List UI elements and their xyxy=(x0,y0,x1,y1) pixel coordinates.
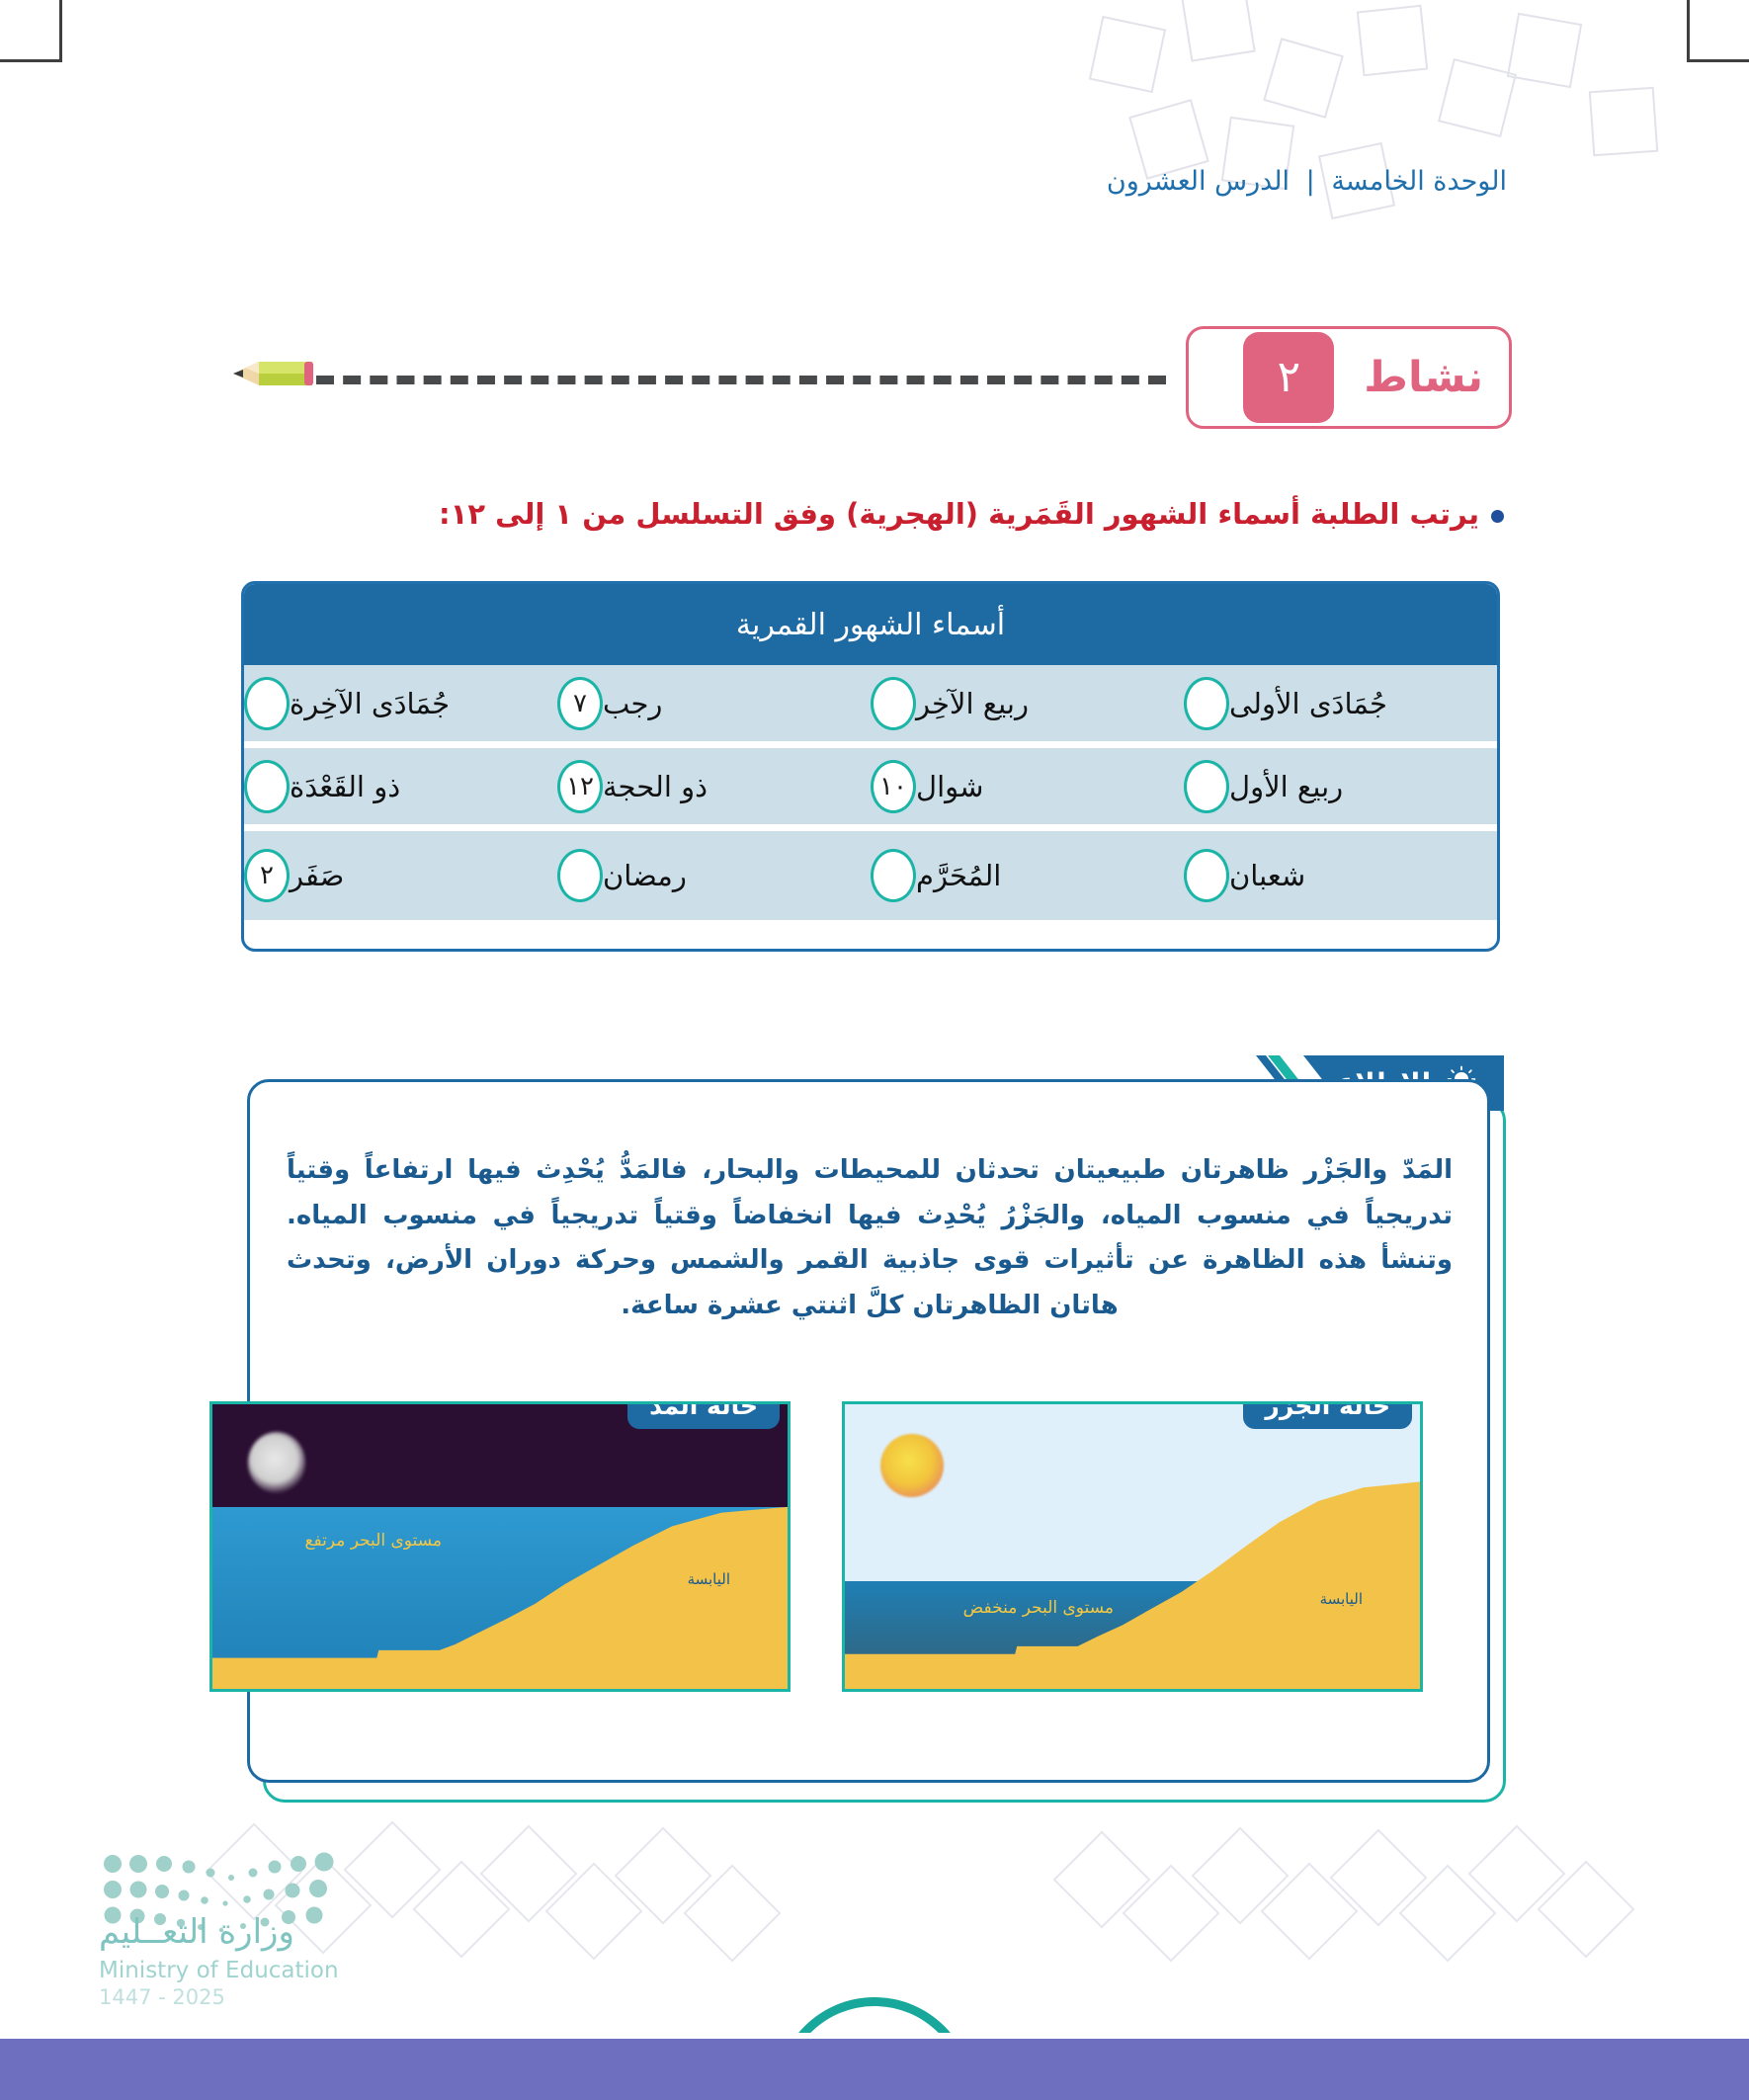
ministry-year: 2025 - 1447 xyxy=(99,1985,225,2009)
month-number-circle[interactable] xyxy=(244,760,290,813)
month-number-circle[interactable]: ١٢ xyxy=(557,760,603,813)
month-name: ذو الحجة xyxy=(603,770,708,803)
page-header: الوحدة الخامسة | الدرس العشرون xyxy=(1107,166,1507,197)
instruction-line: يرتب الطلبة أسماء الشهور القَمَرية (الهج… xyxy=(239,494,1504,535)
month-cell[interactable]: ربيع الأول xyxy=(1184,760,1497,813)
table-row: جُمَادَى الأولى ربيع الآخِر ٧ رجب جُمَاد… xyxy=(244,665,1497,748)
month-cell[interactable]: جُمَادَى الآخِرة xyxy=(244,677,557,730)
sea-level-label: مستوى البحر مرتفع xyxy=(304,1531,442,1551)
month-number-circle[interactable]: ٧ xyxy=(557,677,603,730)
info-paragraph: المَدّ والجَزْر ظاهرتان طبيعيتان تحدثان … xyxy=(287,1148,1453,1328)
month-cell[interactable]: ذو القَعْدَة xyxy=(244,760,557,813)
instruction-text: يرتب الطلبة أسماء الشهور القَمَرية (الهج… xyxy=(439,497,1479,531)
month-name: ذو القَعْدَة xyxy=(290,770,400,803)
activity-badge: نشاط ٢ xyxy=(1186,326,1512,429)
month-cell[interactable]: ربيع الآخِر xyxy=(871,677,1184,730)
land-shape xyxy=(845,1404,1420,1689)
month-name: صَفَر xyxy=(290,859,344,892)
header-separator: | xyxy=(1306,166,1315,197)
month-number-circle[interactable] xyxy=(1184,760,1229,813)
month-number-circle[interactable] xyxy=(871,677,916,730)
table-row: ربيع الأول ١٠ شوال ١٢ ذو الحجة ذو القَعْ… xyxy=(244,748,1497,831)
month-number-circle[interactable] xyxy=(1184,677,1229,730)
month-cell[interactable]: ٧ رجب xyxy=(557,677,871,730)
month-number-circle[interactable] xyxy=(1184,849,1229,902)
month-cell[interactable]: رمضان xyxy=(557,849,871,902)
month-name: رمضان xyxy=(603,859,687,892)
table-row: شعبان المُحَرَّم رمضان ٢ صَفَر xyxy=(244,831,1497,920)
month-name: رجب xyxy=(603,687,662,720)
month-cell[interactable]: المُحَرَّم xyxy=(871,849,1184,902)
diagram-low-tide: مستوى البحر منخفض اليابسة حالة الجَزْر xyxy=(842,1401,1423,1692)
month-name: شعبان xyxy=(1229,859,1305,892)
month-name: شوال xyxy=(916,770,983,803)
month-number-circle[interactable] xyxy=(871,849,916,902)
activity-dashed-line xyxy=(316,376,1166,384)
month-name: ربيع الآخِر xyxy=(916,687,1029,720)
crop-mark-top-left xyxy=(0,0,62,62)
land-label: اليابسة xyxy=(1320,1590,1363,1608)
activity-number: ٢ xyxy=(1243,332,1334,423)
month-number-circle[interactable]: ١٠ xyxy=(871,760,916,813)
bullet-icon xyxy=(1491,510,1504,523)
diagram-title: حالة المَدّ xyxy=(627,1401,780,1429)
activity-strip: نشاط ٢ xyxy=(237,326,1512,435)
ministry-name-arabic: وزارة التعــليم xyxy=(99,1912,294,1952)
land-label: اليابسة xyxy=(688,1570,730,1588)
sea-level-label: مستوى البحر منخفض xyxy=(963,1598,1114,1618)
pencil-icon xyxy=(225,344,314,403)
month-cell[interactable]: شعبان xyxy=(1184,849,1497,902)
land-shape xyxy=(212,1404,788,1689)
activity-label: نشاط xyxy=(1364,357,1483,399)
month-cell[interactable]: ١٢ ذو الحجة xyxy=(557,760,871,813)
month-cell[interactable]: ٢ صَفَر xyxy=(244,849,557,902)
month-name: ربيع الأول xyxy=(1229,770,1343,803)
month-name: المُحَرَّم xyxy=(916,859,1001,892)
header-lesson: الدرس العشرون xyxy=(1107,166,1290,197)
month-number-circle[interactable] xyxy=(557,849,603,902)
month-name: جُمَادَى الآخِرة xyxy=(290,687,450,720)
months-table: أسماء الشهور القمرية جُمَادَى الأولى ربي… xyxy=(241,581,1500,952)
footer-bar xyxy=(0,2039,1749,2100)
month-number-circle[interactable]: ٢ xyxy=(244,849,290,902)
month-name: جُمَادَى الأولى xyxy=(1229,687,1387,720)
month-number-circle[interactable] xyxy=(244,677,290,730)
diagram-high-tide: مستوى البحر مرتفع اليابسة حالة المَدّ xyxy=(209,1401,791,1692)
month-cell[interactable]: جُمَادَى الأولى xyxy=(1184,677,1497,730)
decorative-squares-top xyxy=(1077,0,1749,257)
diagram-title: حالة الجَزْر xyxy=(1243,1401,1412,1429)
ministry-name-english: Ministry of Education xyxy=(99,1958,339,1983)
crop-dash-left xyxy=(0,59,22,62)
header-unit: الوحدة الخامسة xyxy=(1331,166,1507,197)
month-cell[interactable]: ١٠ شوال xyxy=(871,760,1184,813)
months-table-title: أسماء الشهور القمرية xyxy=(244,584,1497,665)
